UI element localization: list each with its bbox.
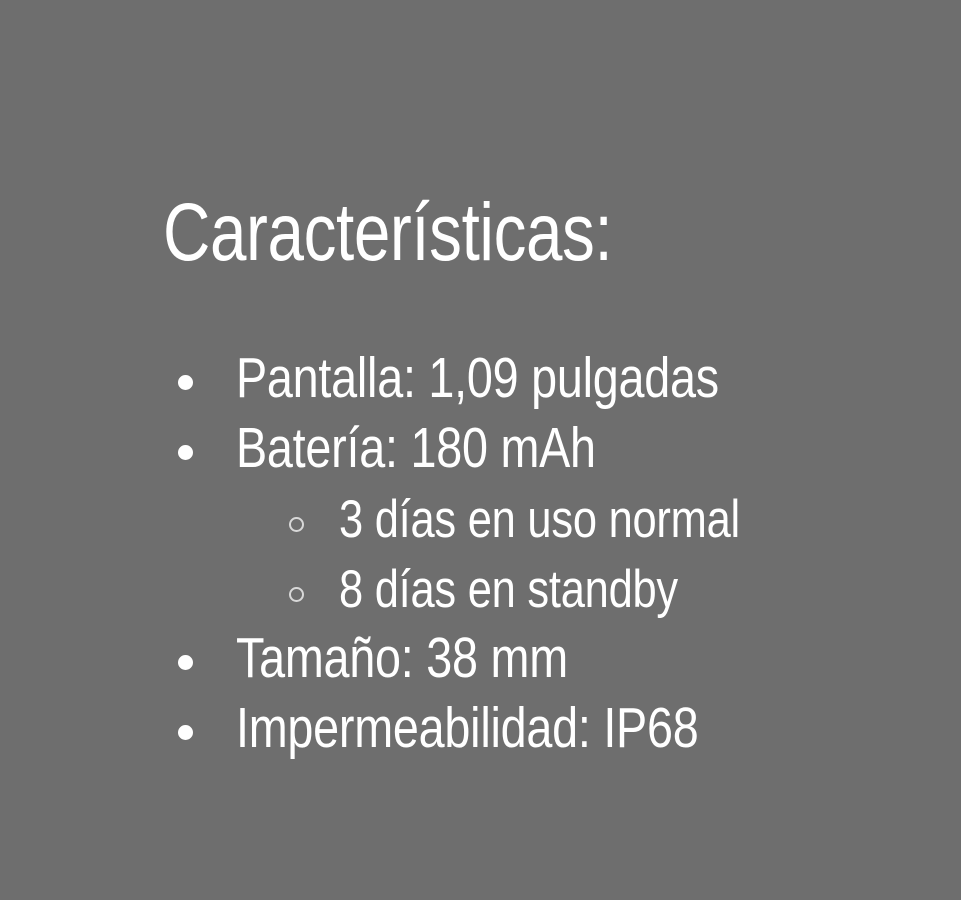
filled-disc-bullet-icon — [178, 655, 193, 670]
list-item-label: 3 días en uso normal — [339, 485, 740, 555]
page-title: Características: — [163, 192, 612, 274]
list-item: Batería: 180 mAh — [0, 422, 961, 492]
list-item-label: Batería: 180 mAh — [236, 413, 596, 483]
list-item-label: 8 días en standby — [339, 555, 678, 625]
list-item: 8 días en standby — [0, 562, 961, 632]
feature-list: Pantalla: 1,09 pulgadas Batería: 180 mAh… — [0, 352, 961, 772]
list-item: Impermeabilidad: IP68 — [0, 702, 961, 772]
list-item-label: Tamaño: 38 mm — [236, 623, 568, 693]
list-item-label: Impermeabilidad: IP68 — [236, 693, 698, 763]
filled-disc-bullet-icon — [178, 375, 193, 390]
hollow-circle-bullet-icon — [289, 517, 304, 532]
list-item: Pantalla: 1,09 pulgadas — [0, 352, 961, 422]
presentation-slide: Características: Pantalla: 1,09 pulgadas… — [0, 0, 961, 900]
list-item-label: Pantalla: 1,09 pulgadas — [236, 343, 719, 413]
list-item: 3 días en uso normal — [0, 492, 961, 562]
filled-disc-bullet-icon — [178, 445, 193, 460]
list-item: Tamaño: 38 mm — [0, 632, 961, 702]
filled-disc-bullet-icon — [178, 725, 193, 740]
hollow-circle-bullet-icon — [289, 587, 304, 602]
